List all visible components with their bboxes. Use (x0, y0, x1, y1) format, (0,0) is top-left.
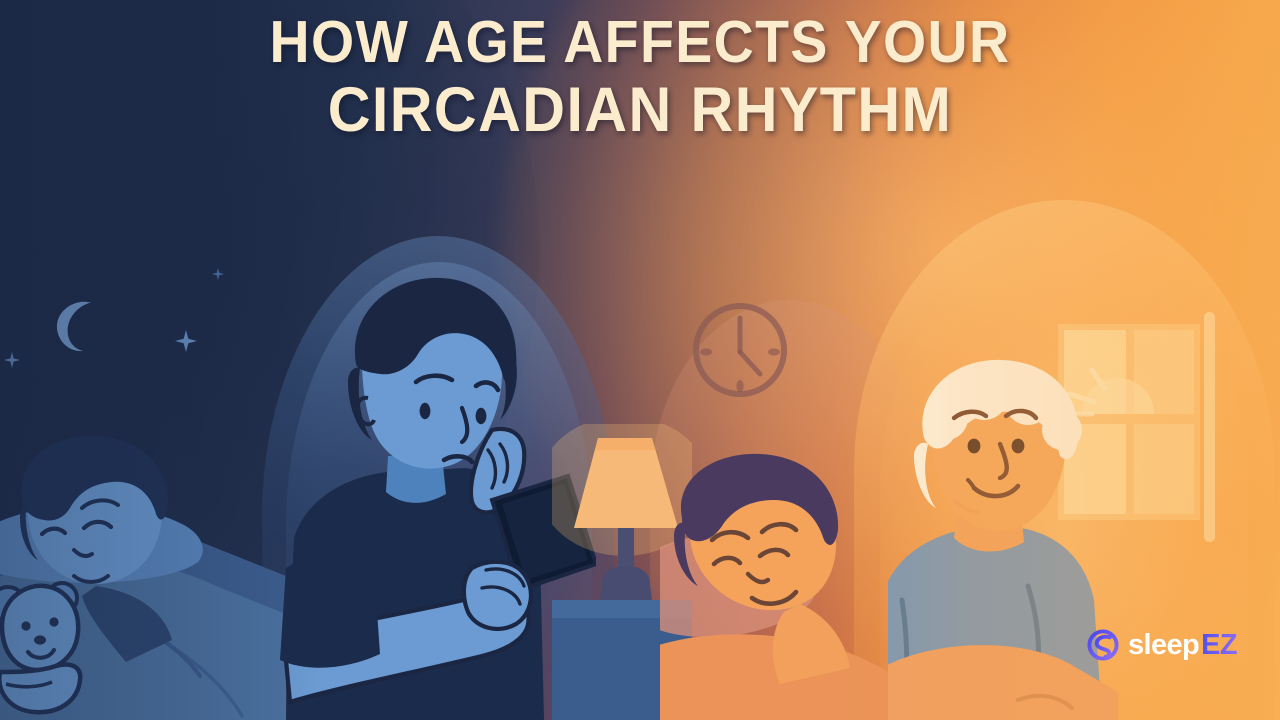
wall-clock-icon (686, 296, 794, 404)
crescent-moon-icon (52, 300, 104, 352)
scene-sleeping-child (0, 400, 286, 720)
brand-logo[interactable]: sleep EZ (1086, 628, 1237, 662)
scene-elderly-person (888, 352, 1118, 720)
scene-teen-with-phone (276, 268, 596, 720)
poster-title: HOW AGE AFFECTS YOUR CIRCADIAN RHYTHM (0, 12, 1280, 142)
title-line-2: CIRCADIAN RHYTHM (38, 78, 1241, 142)
teddy-bear-icon (0, 583, 80, 712)
brand-word-secondary: EZ (1201, 631, 1237, 660)
poster-canvas: HOW AGE AFFECTS YOUR CIRCADIAN RHYTHM sl… (0, 0, 1280, 720)
title-line-1: HOW AGE AFFECTS YOUR (38, 12, 1241, 72)
brand-word-primary: sleep (1128, 631, 1199, 660)
sleepez-s-mark (1086, 628, 1120, 662)
sparkle-star-icon (4, 352, 20, 368)
sparkle-star-icon (175, 330, 197, 352)
sparkle-star-icon (212, 268, 224, 280)
